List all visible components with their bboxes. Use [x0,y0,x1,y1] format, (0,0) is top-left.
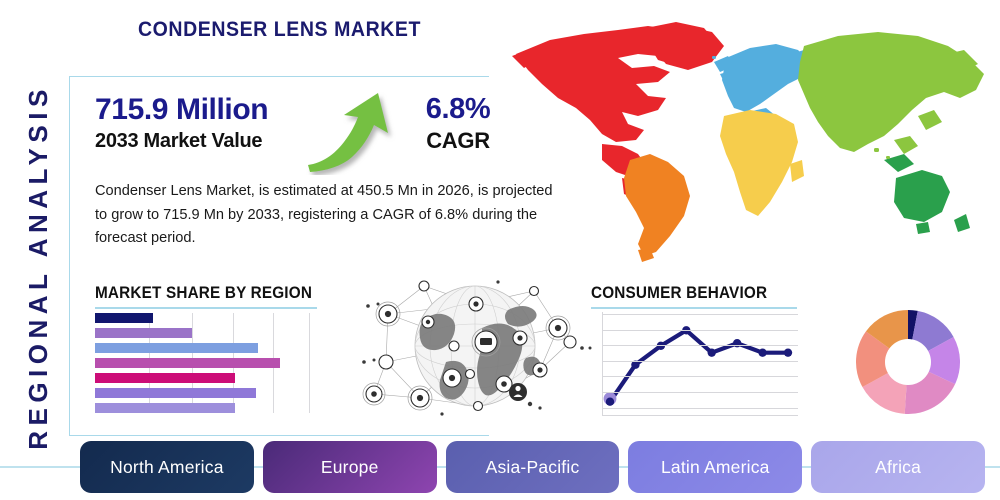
consumer-behavior-line-chart [602,312,798,416]
region-tab-latin-america[interactable]: Latin America [628,441,802,493]
region-tab-label: North America [110,457,223,478]
bar-chart-bar [95,328,192,338]
market-share-title: MARKET SHARE BY REGION [95,283,295,303]
bar-chart-bar [95,388,256,398]
bar-chart-bar [95,358,280,368]
infographic-root: REGIONAL ANALYSIS CONDENSER LENS MARKET … [0,0,1000,500]
bar-chart-bar [95,373,235,383]
kpi-market-value: 715.9 Million 2033 Market Value [95,95,268,152]
market-share-bar-chart [95,313,310,413]
line-chart-axis [602,312,603,416]
kpi-cagr: 6.8% CAGR [408,95,508,153]
bar-chart-bar [95,313,153,323]
bar-chart-bars [95,313,310,413]
region-tab-label: Africa [875,457,921,478]
region-tabs[interactable]: North AmericaEuropeAsia-PacificLatin Ame… [80,441,985,493]
vertical-section-label: REGIONAL ANALYSIS [16,57,60,477]
region-tab-label: Asia-Pacific [486,457,580,478]
region-tab-north-america[interactable]: North America [80,441,254,493]
world-map-icon [498,12,994,270]
donut-center-hole [885,339,931,385]
regional-donut-chart [856,310,960,414]
consumer-behavior-underline [591,307,797,309]
kpi-cagr-number: 6.8% [408,95,508,124]
kpi-market-value-label: 2033 Market Value [95,130,268,152]
region-tab-europe[interactable]: Europe [263,441,437,493]
kpi-row: 715.9 Million 2033 Market Value 6.8% CAG… [95,93,515,173]
consumer-behavior-header: CONSUMER BEHAVIOR [591,283,797,309]
page-title: CONDENSER LENS MARKET [138,18,421,42]
region-tab-asia-pacific[interactable]: Asia-Pacific [446,441,620,493]
bar-chart-bar [95,343,258,353]
region-tab-label: Latin America [661,457,770,478]
kpi-market-value-number: 715.9 Million [95,95,268,125]
region-tab-label: Europe [321,457,379,478]
market-share-header: MARKET SHARE BY REGION [95,283,317,309]
line-chart-gridlines [602,312,798,416]
market-share-underline [95,307,317,309]
bar-chart-bar [95,403,235,413]
region-tab-africa[interactable]: Africa [811,441,985,493]
market-description: Condenser Lens Market, is estimated at 4… [95,180,565,251]
consumer-behavior-title: CONSUMER BEHAVIOR [591,283,776,303]
growth-arrow-icon [306,89,398,175]
kpi-cagr-label: CAGR [408,129,508,153]
global-network-globe-icon [358,266,593,426]
